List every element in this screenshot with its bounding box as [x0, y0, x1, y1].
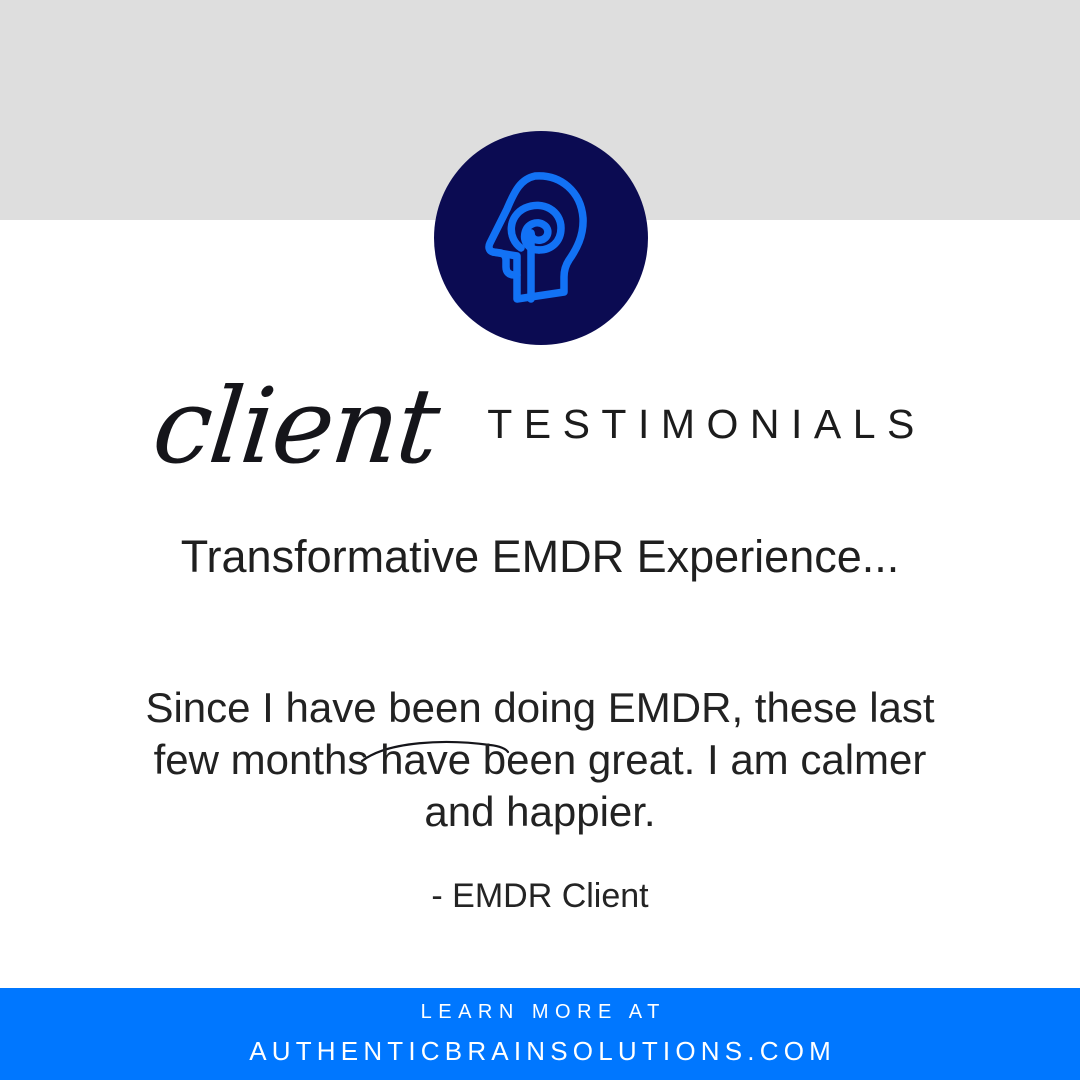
footer-cta-banner[interactable]: LEARN MORE AT AUTHENTICBRAINSOLUTIONS.CO… — [0, 988, 1080, 1080]
testimonial-card: client TESTIMONIALS Transformative EMDR … — [0, 0, 1080, 1080]
head-profile-spiral-brain-icon — [477, 168, 605, 308]
testimonial-headline: Transformative EMDR Experience... — [140, 531, 940, 584]
testimonial-quote: Since I have been doing EMDR, these last… — [120, 682, 960, 838]
title-block-word: TESTIMONIALS — [487, 401, 926, 448]
section-title: client TESTIMONIALS — [0, 345, 1080, 495]
footer-website-url[interactable]: AUTHENTICBRAINSOLUTIONS.COM — [244, 1036, 836, 1067]
footer-cta-label: LEARN MORE AT — [414, 1001, 666, 1024]
title-script-word: client — [149, 374, 443, 478]
testimonial-attribution: - EMDR Client — [140, 877, 940, 916]
brand-logo-badge — [434, 131, 648, 345]
